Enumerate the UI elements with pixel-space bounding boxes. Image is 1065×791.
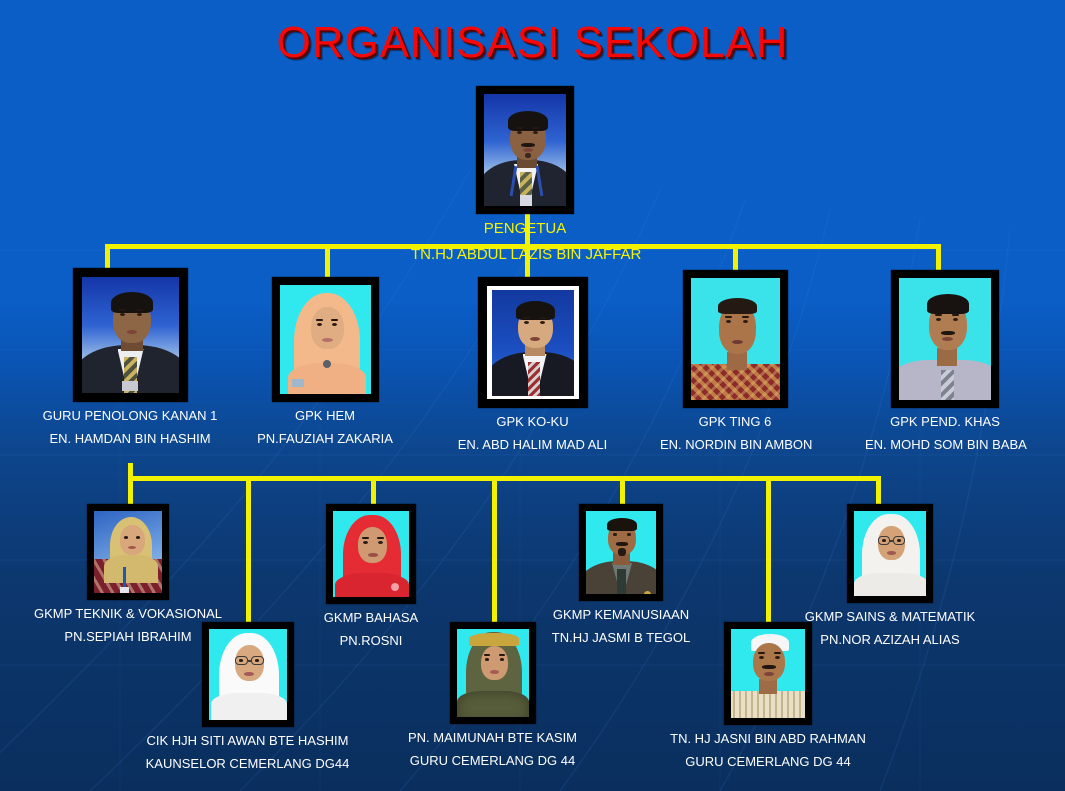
connector-drop-l2-4	[733, 244, 738, 272]
photo-gkmp-bahasa	[333, 511, 409, 597]
caption-role-guru-cemerlang-2: GURU CEMERLANG DG 44	[668, 752, 868, 771]
connector-drop-l4-2	[492, 476, 497, 622]
connector-drop-l3-4	[876, 476, 881, 504]
photo-gkmp-kemanusiaan	[586, 511, 656, 594]
caption-name-gpk-koku: EN. ABD HALIM MAD ALI	[455, 435, 610, 454]
caption-role-pengetua: PENGETUA	[411, 218, 639, 240]
photo-frame-gkmp-teknik	[87, 504, 169, 600]
node-kaunselor[interactable]: CIK HJH SITI AWAN BTE HASHIM KAUNSELOR C…	[145, 622, 350, 773]
page-title: ORGANISASI SEKOLAH	[0, 18, 1065, 68]
photo-kaunselor	[209, 629, 287, 720]
connector-drop-l4-3	[766, 476, 771, 622]
photo-frame-gkmp-bahasa	[326, 504, 416, 604]
node-gpk-khas[interactable]: GPK PEND. KHAS EN. MOHD SOM BIN BABA	[865, 270, 1025, 454]
photo-frame-pengetua	[476, 86, 574, 214]
photo-frame-gpk-hem	[272, 277, 379, 402]
node-pengetua[interactable]: PENGETUA TN.HJ ABDUL LAZIS BIN JAFFAR	[411, 86, 639, 266]
caption-role-gpk-hem: GPK HEM	[255, 406, 395, 425]
node-guru-cemerlang-2[interactable]: TN. HJ JASNI BIN ABD RAHMAN GURU CEMERLA…	[668, 622, 868, 771]
photo-gkmp-sains	[854, 511, 926, 596]
node-gpk-hem[interactable]: GPK HEM PN.FAUZIAH ZAKARIA	[255, 277, 395, 448]
caption-name-pengetua: TN.HJ ABDUL LAZIS BIN JAFFAR	[411, 244, 639, 266]
photo-frame-gpk1	[73, 268, 188, 402]
caption-name-kaunselor: CIK HJH SITI AWAN BTE HASHIM	[145, 731, 350, 750]
photo-guru-cemerlang-1	[457, 629, 529, 717]
connector-drop-l3-2	[371, 476, 376, 504]
caption-role-gpk-ting6: GPK TING 6	[660, 412, 810, 431]
caption-role-gpk1: GURU PENOLONG KANAN 1	[20, 406, 240, 425]
caption-name-gpk1: EN. HAMDAN BIN HASHIM	[20, 429, 240, 448]
caption-role-gpk-koku: GPK KO-KU	[455, 412, 610, 431]
photo-pengetua	[484, 94, 566, 206]
photo-gkmp-teknik	[94, 511, 162, 593]
photo-gpk1	[82, 277, 179, 393]
node-gpk1[interactable]: GURU PENOLONG KANAN 1 EN. HAMDAN BIN HAS…	[20, 268, 240, 448]
node-gpk-ting6[interactable]: GPK TING 6 GPK PEND. KHAS EN. NORDIN BIN…	[660, 270, 810, 454]
photo-gpk-hem	[280, 285, 371, 394]
photo-frame-guru-cemerlang-1	[450, 622, 536, 724]
caption-name-guru-cemerlang-1: PN. MAIMUNAH BTE KASIM	[395, 728, 590, 747]
org-chart-slide: ORGANISASI SEKOLAH	[0, 0, 1065, 791]
photo-frame-gpk-khas	[891, 270, 999, 408]
caption-role-kaunselor: KAUNSELOR CEMERLANG DG44	[145, 754, 350, 773]
photo-frame-gkmp-kemanusiaan	[579, 504, 663, 601]
node-guru-cemerlang-1[interactable]: PN. MAIMUNAH BTE KASIM GURU CEMERLANG DG…	[395, 622, 590, 770]
photo-gpk-ting6	[691, 278, 780, 400]
photo-frame-guru-cemerlang-2	[724, 622, 812, 725]
connector-drop-l2-5	[936, 244, 941, 272]
photo-gpk-koku	[487, 286, 579, 399]
connector-drop-l3-1	[128, 476, 133, 504]
caption-name-gpk-hem: PN.FAUZIAH ZAKARIA	[255, 429, 395, 448]
caption-role-gpk-khas: GPK PEND. KHAS	[865, 412, 1025, 431]
photo-gpk-khas	[899, 278, 991, 400]
photo-frame-kaunselor	[202, 622, 294, 727]
caption-role-guru-cemerlang-1: GURU CEMERLANG DG 44	[395, 751, 590, 770]
caption-name-gpk-ting6-real: EN. NORDIN BIN AMBON	[660, 435, 810, 454]
photo-frame-gpk-ting6	[683, 270, 788, 408]
connector-drop-l4-1	[246, 476, 251, 622]
photo-guru-cemerlang-2	[731, 629, 805, 718]
node-gpk-koku[interactable]: GPK KO-KU EN. ABD HALIM MAD ALI	[455, 277, 610, 454]
caption-role-gkmp-teknik: GKMP TEKNIK & VOKASIONAL	[28, 604, 228, 623]
caption-name-gpk-khas: EN. MOHD SOM BIN BABA	[865, 435, 1025, 454]
connector-drop-l3-3	[620, 476, 625, 504]
connector-drop-l2-2	[325, 244, 330, 277]
caption-name-guru-cemerlang-2: TN. HJ JASNI BIN ABD RAHMAN	[668, 729, 868, 748]
photo-frame-gpk-koku	[478, 277, 588, 408]
photo-frame-gkmp-sains	[847, 504, 933, 603]
